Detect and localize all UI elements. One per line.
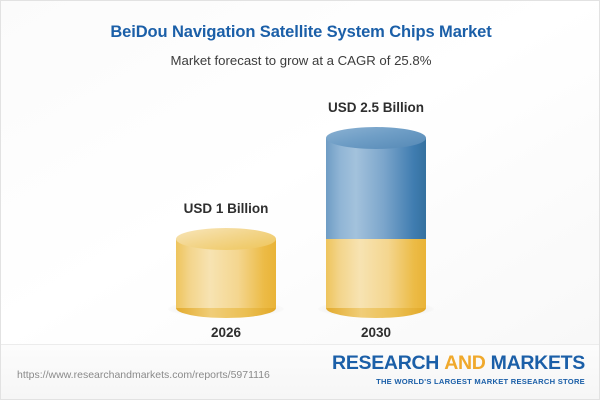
chart-plot-area: USD 1 Billion 2026 USD 2.5 Billion 2030 xyxy=(1,1,600,346)
cylinder-top-cap-2026 xyxy=(176,228,276,250)
logo-word-and: AND xyxy=(444,352,485,374)
cylinder-upper-segment-2030 xyxy=(326,138,426,239)
logo-word-research: RESEARCH xyxy=(332,352,439,374)
cylinder-2026[interactable] xyxy=(176,228,276,308)
logo-tagline: THE WORLD'S LARGEST MARKET RESEARCH STOR… xyxy=(332,378,585,386)
cylinder-2030[interactable] xyxy=(326,127,426,308)
bar-value-label-2026: USD 1 Billion xyxy=(126,201,326,216)
cylinder-top-cap-2030 xyxy=(326,127,426,149)
logo-wordmark: RESEARCH AND MARKETS xyxy=(332,354,585,374)
logo-word-markets: MARKETS xyxy=(491,352,585,374)
bar-value-label-2030: USD 2.5 Billion xyxy=(276,100,476,115)
cylinder-lower-segment-2030 xyxy=(326,239,426,308)
report-url[interactable]: https://www.researchandmarkets.com/repor… xyxy=(17,369,270,381)
research-and-markets-logo[interactable]: RESEARCH AND MARKETS THE WORLD'S LARGEST… xyxy=(332,354,585,385)
footer: https://www.researchandmarkets.com/repor… xyxy=(1,344,599,399)
category-label-2030: 2030 xyxy=(276,325,476,340)
market-forecast-infographic: BeiDou Navigation Satellite System Chips… xyxy=(0,0,600,400)
